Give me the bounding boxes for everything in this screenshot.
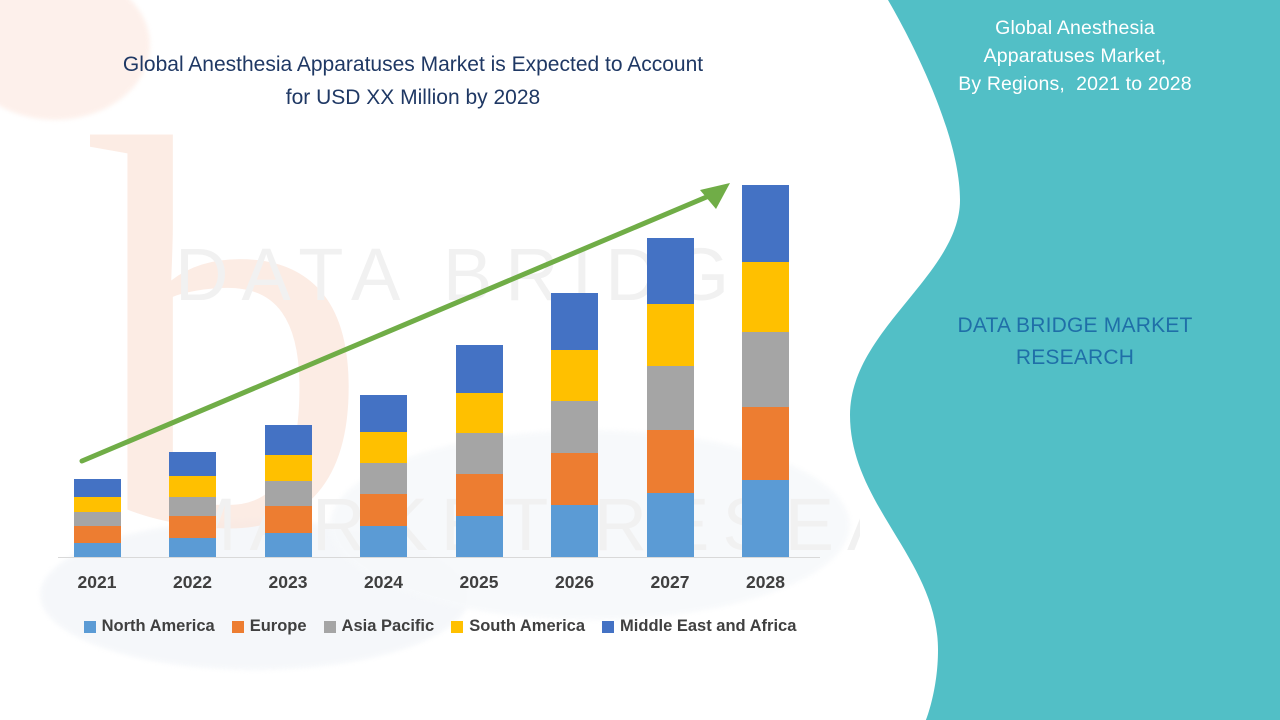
chart-legend: North AmericaEuropeAsia PacificSouth Ame… — [50, 617, 830, 636]
legend-item-north-america[interactable]: North America — [84, 617, 215, 636]
legend-label: Asia Pacific — [342, 617, 435, 636]
legend-swatch-icon — [324, 621, 336, 633]
legend-swatch-icon — [232, 621, 244, 633]
brand-name: DATA BRIDGE MARKET RESEARCH — [860, 310, 1280, 374]
legend-label: South America — [469, 617, 585, 636]
legend-swatch-icon — [451, 621, 463, 633]
legend-item-middle-east-and-africa[interactable]: Middle East and Africa — [602, 617, 796, 636]
legend-label: Middle East and Africa — [620, 617, 796, 636]
plot-area: 20212022202320242025202620272028 — [0, 0, 860, 720]
legend-label: North America — [102, 617, 215, 636]
brand-name-line-1: DATA BRIDGE MARKET — [860, 310, 1280, 342]
x-axis-label-2028: 2028 — [721, 572, 811, 593]
growth-trend-arrow-icon — [0, 0, 860, 720]
brand-name-line-2: RESEARCH — [860, 342, 1280, 374]
legend-item-europe[interactable]: Europe — [232, 617, 307, 636]
chart-panel: b DATA BRIDGE MARKET RESEARCH Global Ane… — [0, 0, 860, 720]
legend-swatch-icon — [602, 621, 614, 633]
panel-title-line-1: Global Anesthesia — [890, 14, 1260, 42]
legend-label: Europe — [250, 617, 307, 636]
legend-item-south-america[interactable]: South America — [451, 617, 585, 636]
x-axis-label-2022: 2022 — [148, 572, 238, 593]
panel-title: Global Anesthesia Apparatuses Market, By… — [890, 14, 1260, 98]
branding-panel: Global Anesthesia Apparatuses Market, By… — [830, 0, 1280, 720]
x-axis-label-2024: 2024 — [339, 572, 429, 593]
x-axis-label-2026: 2026 — [530, 572, 620, 593]
panel-title-line-2: Apparatuses Market, — [890, 42, 1260, 70]
x-axis-label-2021: 2021 — [52, 572, 142, 593]
x-axis-label-2025: 2025 — [434, 572, 524, 593]
x-axis-label-2023: 2023 — [243, 572, 333, 593]
legend-swatch-icon — [84, 621, 96, 633]
panel-title-line-3: By Regions, 2021 to 2028 — [890, 70, 1260, 98]
x-axis-label-2027: 2027 — [625, 572, 715, 593]
legend-item-asia-pacific[interactable]: Asia Pacific — [324, 617, 435, 636]
